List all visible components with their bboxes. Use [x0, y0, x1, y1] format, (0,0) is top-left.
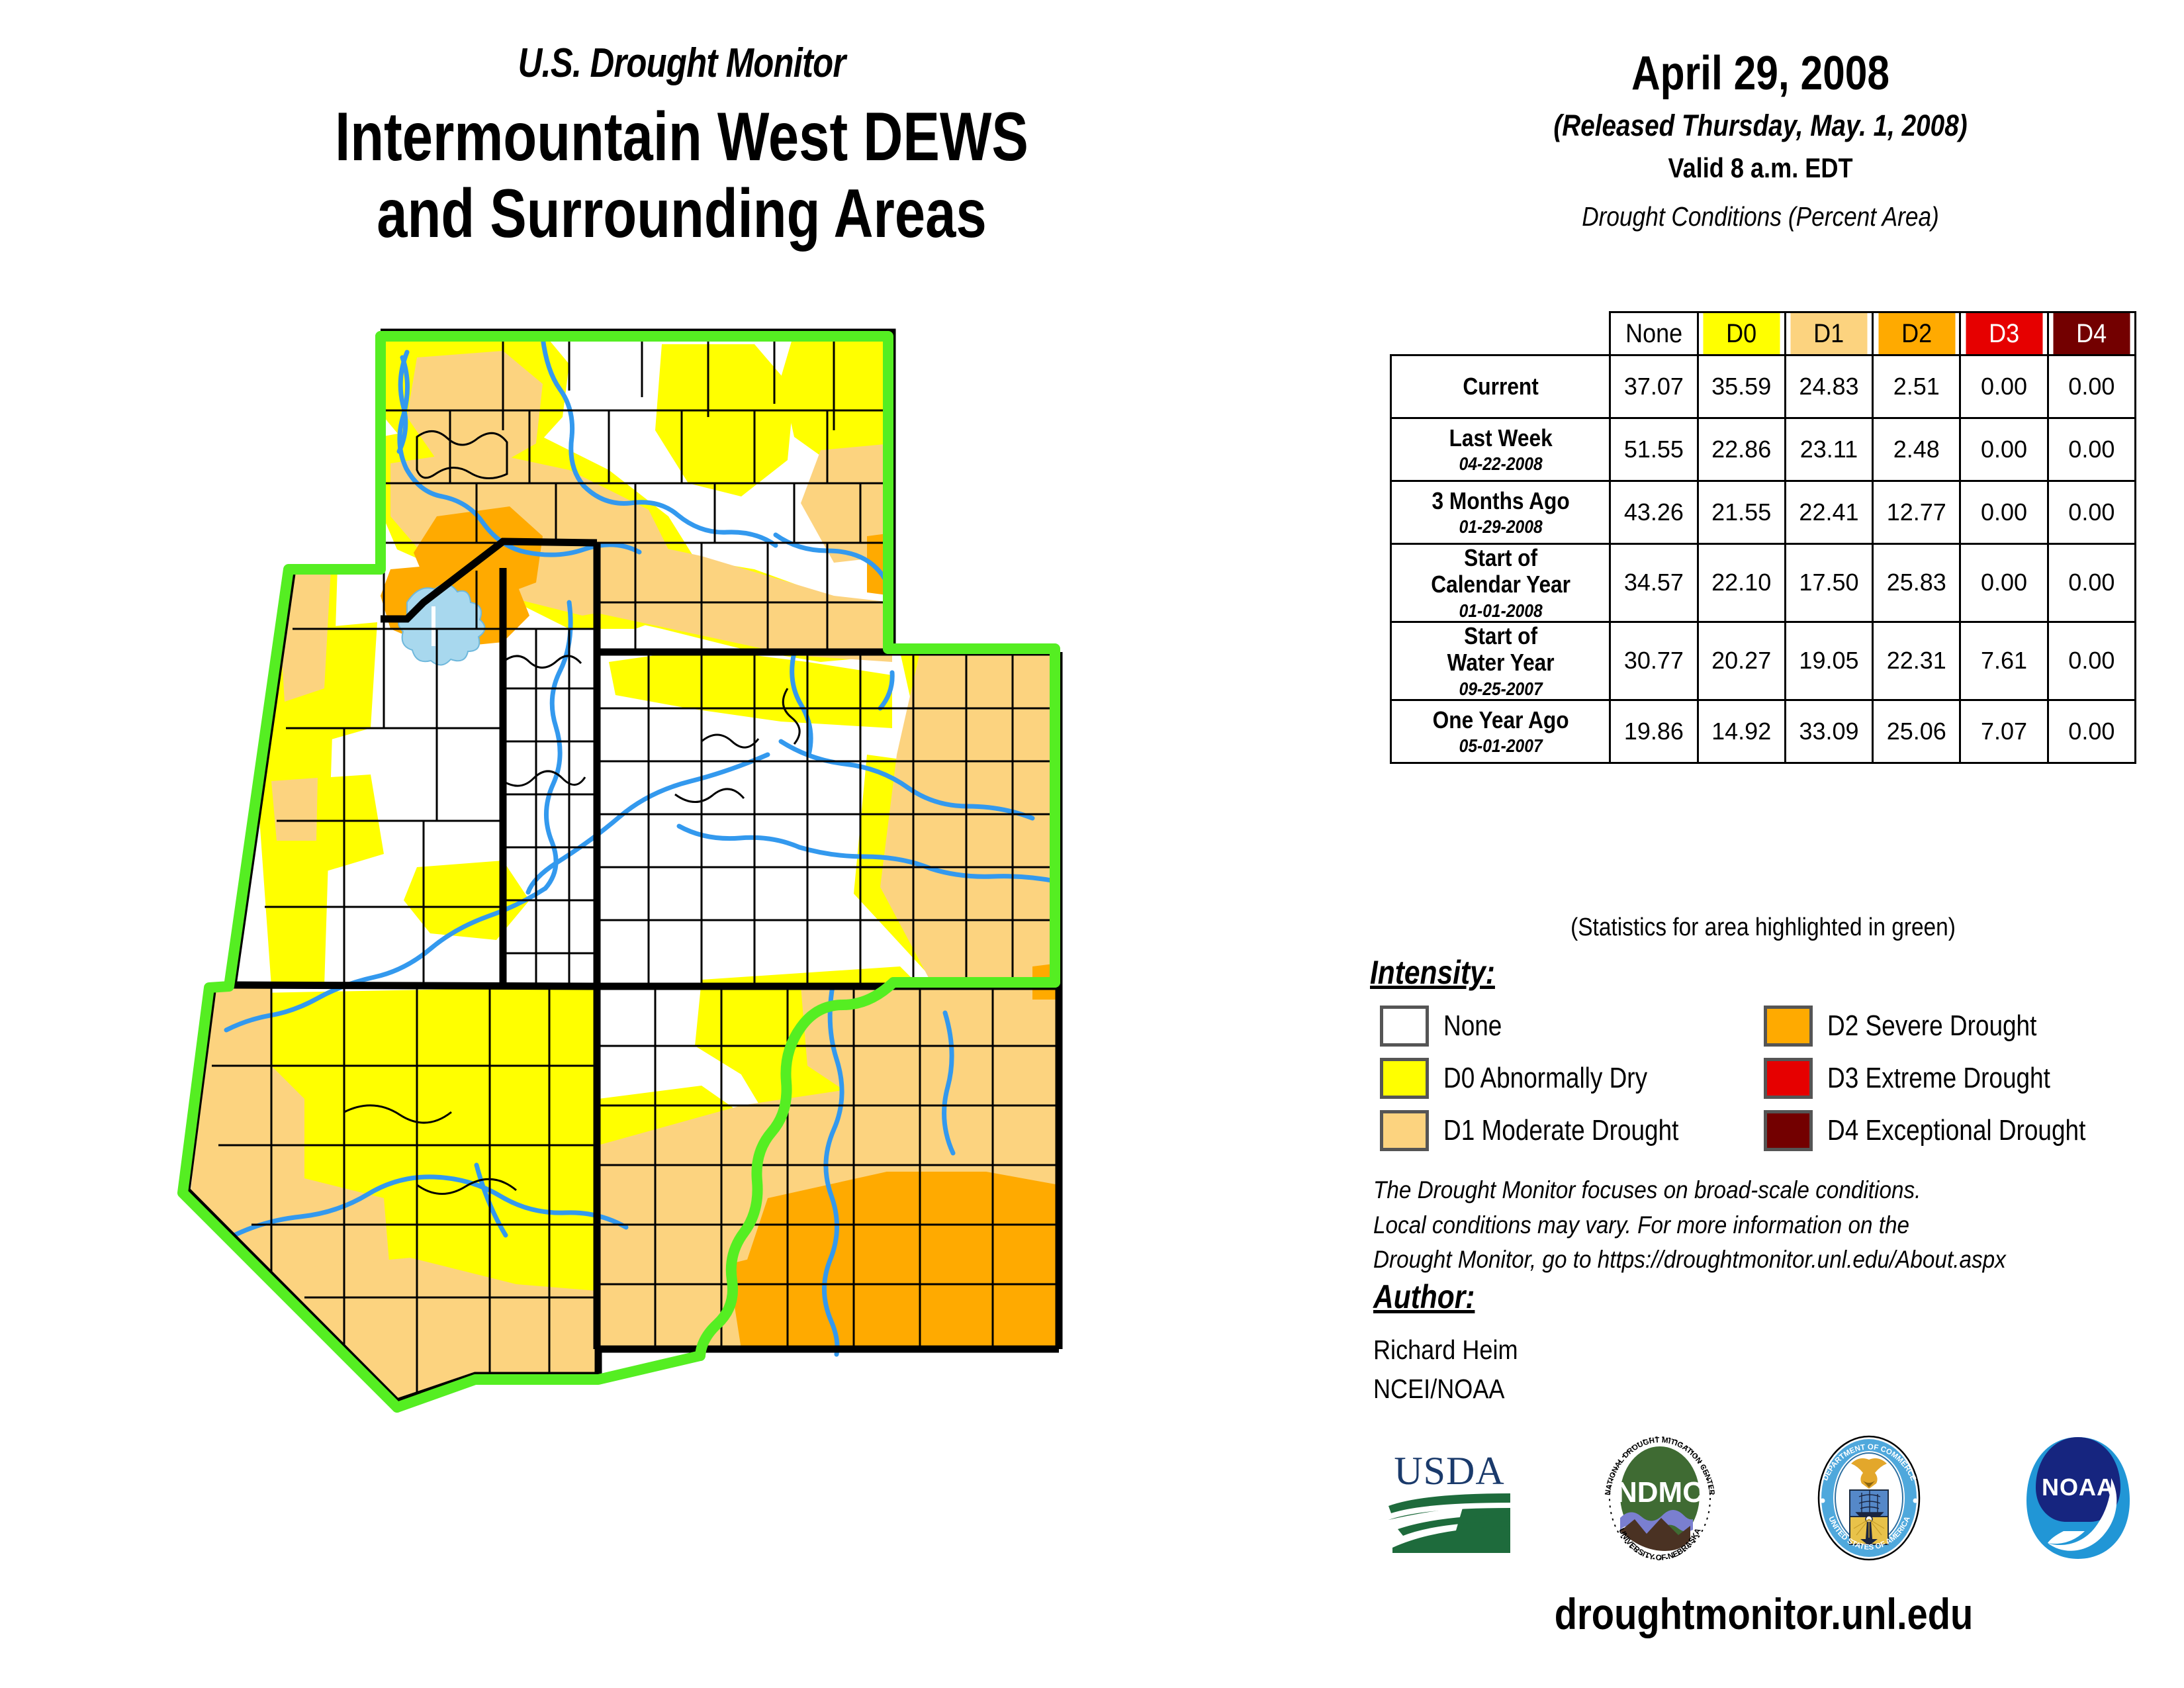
row-label: Start ofCalendar Year01-01-2008: [1404, 544, 1597, 622]
column-header-d2: D2: [1877, 312, 1956, 355]
cell-none: 19.86: [1610, 700, 1698, 763]
cell-d1: 23.11: [1785, 418, 1872, 481]
cell-d3: 0.00: [1960, 418, 2048, 481]
legend-heading: Intensity:: [1370, 953, 1495, 992]
cell-none: 34.57: [1610, 544, 1698, 622]
table-body: Current37.0735.5924.832.510.000.00Last W…: [1391, 355, 2136, 763]
cell-d4: 0.00: [2048, 700, 2135, 763]
cell-d0: 22.10: [1698, 544, 1785, 622]
table-row: Last Week04-22-200851.5522.8623.112.480.…: [1391, 418, 2136, 481]
cell-d0: 14.92: [1698, 700, 1785, 763]
legend-label-d0: D0 Abnormally Dry: [1443, 1062, 1647, 1095]
cell-d4: 0.00: [2048, 355, 2135, 418]
table-corner-cell: [1402, 312, 1599, 355]
legend-item-d0: D0 Abnormally Dry: [1380, 1058, 1764, 1099]
cell-d0: 21.55: [1698, 481, 1785, 544]
table-caption: Drought Conditions (Percent Area): [1441, 201, 2079, 232]
disclaimer-line-3: Drought Monitor, go to https://droughtmo…: [1373, 1243, 2088, 1278]
map-svg[interactable]: [106, 318, 1297, 1615]
row-label-date: 09-25-2007: [1405, 679, 1596, 699]
legend-swatch-none: [1380, 1006, 1429, 1047]
cell-d3: 7.61: [1960, 622, 2048, 700]
cell-none: 30.77: [1610, 622, 1698, 700]
noaa-logo: NOAA: [2012, 1432, 2144, 1568]
row-label: Last Week04-22-2008: [1404, 418, 1597, 481]
legend-swatch-d2: [1764, 1006, 1813, 1047]
cell-d3: 0.00: [1960, 355, 2048, 418]
table-row: Start ofWater Year09-25-200730.7720.2719…: [1391, 622, 2136, 700]
legend-item-d1: D1 Moderate Drought: [1380, 1110, 1764, 1151]
legend-label-d1: D1 Moderate Drought: [1443, 1114, 1678, 1147]
disclaimer-text: The Drought Monitor focuses on broad-sca…: [1373, 1173, 2088, 1278]
cell-d3: 7.07: [1960, 700, 2048, 763]
cell-d4: 0.00: [2048, 622, 2135, 700]
cell-d0: 20.27: [1698, 622, 1785, 700]
author-block: Richard Heim NCEI/NOAA: [1373, 1331, 1518, 1409]
cell-d4: 0.00: [2048, 481, 2135, 544]
svg-text:NOAA: NOAA: [2042, 1474, 2115, 1501]
table-row: Start ofCalendar Year01-01-200834.5722.1…: [1391, 544, 2136, 622]
legend-grid: NoneD2 Severe DroughtD0 Abnormally DryD3…: [1380, 1000, 2161, 1156]
svg-text:USDA: USDA: [1394, 1449, 1504, 1493]
table-row: 3 Months Ago01-29-200843.2621.5522.4112.…: [1391, 481, 2136, 544]
legend-swatch-d0: [1380, 1058, 1429, 1099]
doc-logo: DEPARTMENT OF COMMERCE UNITED STATES OF …: [1805, 1432, 1934, 1568]
title-block: U.S. Drought Monitor Intermountain West …: [53, 40, 1310, 253]
legend-label-d4: D4 Exceptional Drought: [1827, 1114, 2085, 1147]
legend-swatch-d3: [1764, 1058, 1813, 1099]
column-header-none: None: [1614, 312, 1693, 355]
legend-item-d4: D4 Exceptional Drought: [1764, 1110, 2161, 1151]
cell-none: 43.26: [1610, 481, 1698, 544]
cell-d2: 25.83: [1873, 544, 1960, 622]
cell-d0: 35.59: [1698, 355, 1785, 418]
disclaimer-line-1: The Drought Monitor focuses on broad-sca…: [1373, 1173, 2088, 1208]
usda-logo: USDA: [1383, 1436, 1516, 1562]
row-label-date: 05-01-2007: [1405, 735, 1596, 756]
cell-d2: 22.31: [1873, 622, 1960, 700]
logo-row: USDA NDMC NATIONAL DROUGHT MITIGATION CE…: [1383, 1430, 2144, 1569]
row-label-date: 04-22-2008: [1405, 453, 1596, 474]
cell-d3: 0.00: [1960, 544, 2048, 622]
legend-item-d2: D2 Severe Drought: [1764, 1006, 2161, 1047]
row-label-date: 01-01-2008: [1405, 600, 1596, 621]
disclaimer-line-2: Local conditions may vary. For more info…: [1373, 1208, 2088, 1243]
cell-none: 51.55: [1610, 418, 1698, 481]
page-title-line2: and Surrounding Areas: [179, 175, 1185, 252]
row-label-date: 01-29-2008: [1405, 516, 1596, 537]
cell-d1: 24.83: [1785, 355, 1872, 418]
column-header-d1: D1: [1790, 312, 1868, 355]
cell-d4: 0.00: [2048, 544, 2135, 622]
legend-label-d2: D2 Severe Drought: [1827, 1009, 2036, 1043]
cell-d2: 25.06: [1873, 700, 1960, 763]
cell-d1: 19.05: [1785, 622, 1872, 700]
column-header-d0: D0: [1702, 312, 1781, 355]
cell-none: 37.07: [1610, 355, 1698, 418]
legend-swatch-d1: [1380, 1110, 1429, 1151]
author-name: Richard Heim: [1373, 1331, 1518, 1370]
cell-d3: 0.00: [1960, 481, 2048, 544]
legend-item-none: None: [1380, 1006, 1764, 1047]
valid-time: Valid 8 a.m. EDT: [1441, 152, 2079, 184]
column-header-d4: D4: [2052, 312, 2131, 355]
cell-d1: 22.41: [1785, 481, 1872, 544]
cell-d2: 2.48: [1873, 418, 1960, 481]
table-row: Current37.0735.5924.832.510.000.00: [1391, 355, 2136, 418]
cell-d0: 22.86: [1698, 418, 1785, 481]
release-date: (Released Thursday, May. 1, 2008): [1441, 109, 2079, 143]
column-header-d3: D3: [1965, 312, 2044, 355]
cell-d4: 0.00: [2048, 418, 2135, 481]
table-header-row: None D0 D1 D2 D3 D4: [1391, 312, 2136, 355]
legend-swatch-d4: [1764, 1110, 1813, 1151]
ndmc-logo: NDMC NATIONAL DROUGHT MITIGATION CENTER …: [1594, 1432, 1726, 1568]
row-label: Current: [1404, 355, 1597, 418]
cell-d2: 12.77: [1873, 481, 1960, 544]
map-date: April 29, 2008: [1449, 46, 2072, 101]
row-label: One Year Ago05-01-2007: [1404, 700, 1597, 763]
row-label: 3 Months Ago01-29-2008: [1404, 481, 1597, 544]
legend-label-d3: D3 Extreme Drought: [1827, 1062, 2050, 1095]
footer-url: droughtmonitor.unl.edu: [1446, 1589, 2082, 1639]
author-heading: Author:: [1373, 1278, 1475, 1316]
drought-conditions-table: None D0 D1 D2 D3 D4 Current37.0735.5924.…: [1390, 311, 2136, 764]
page-title-line1: Intermountain West DEWS: [179, 99, 1185, 175]
page-title: Intermountain West DEWS and Surrounding …: [179, 99, 1185, 253]
stats-note: (Statistics for area highlighted in gree…: [1435, 914, 2092, 942]
table-row: One Year Ago05-01-200719.8614.9233.0925.…: [1391, 700, 2136, 763]
cell-d2: 2.51: [1873, 355, 1960, 418]
legend-item-d3: D3 Extreme Drought: [1764, 1058, 2161, 1099]
cell-d1: 17.50: [1785, 544, 1872, 622]
drought-map[interactable]: [106, 318, 1297, 1615]
cell-d1: 33.09: [1785, 700, 1872, 763]
row-label: Start ofWater Year09-25-2007: [1404, 622, 1597, 700]
dm-supertitle: U.S. Drought Monitor: [166, 40, 1197, 87]
author-affiliation: NCEI/NOAA: [1373, 1370, 1518, 1409]
legend-label-none: None: [1443, 1009, 1502, 1043]
date-block: April 29, 2008 (Released Thursday, May. …: [1390, 46, 2131, 232]
svg-text:NDMC: NDMC: [1616, 1476, 1704, 1509]
